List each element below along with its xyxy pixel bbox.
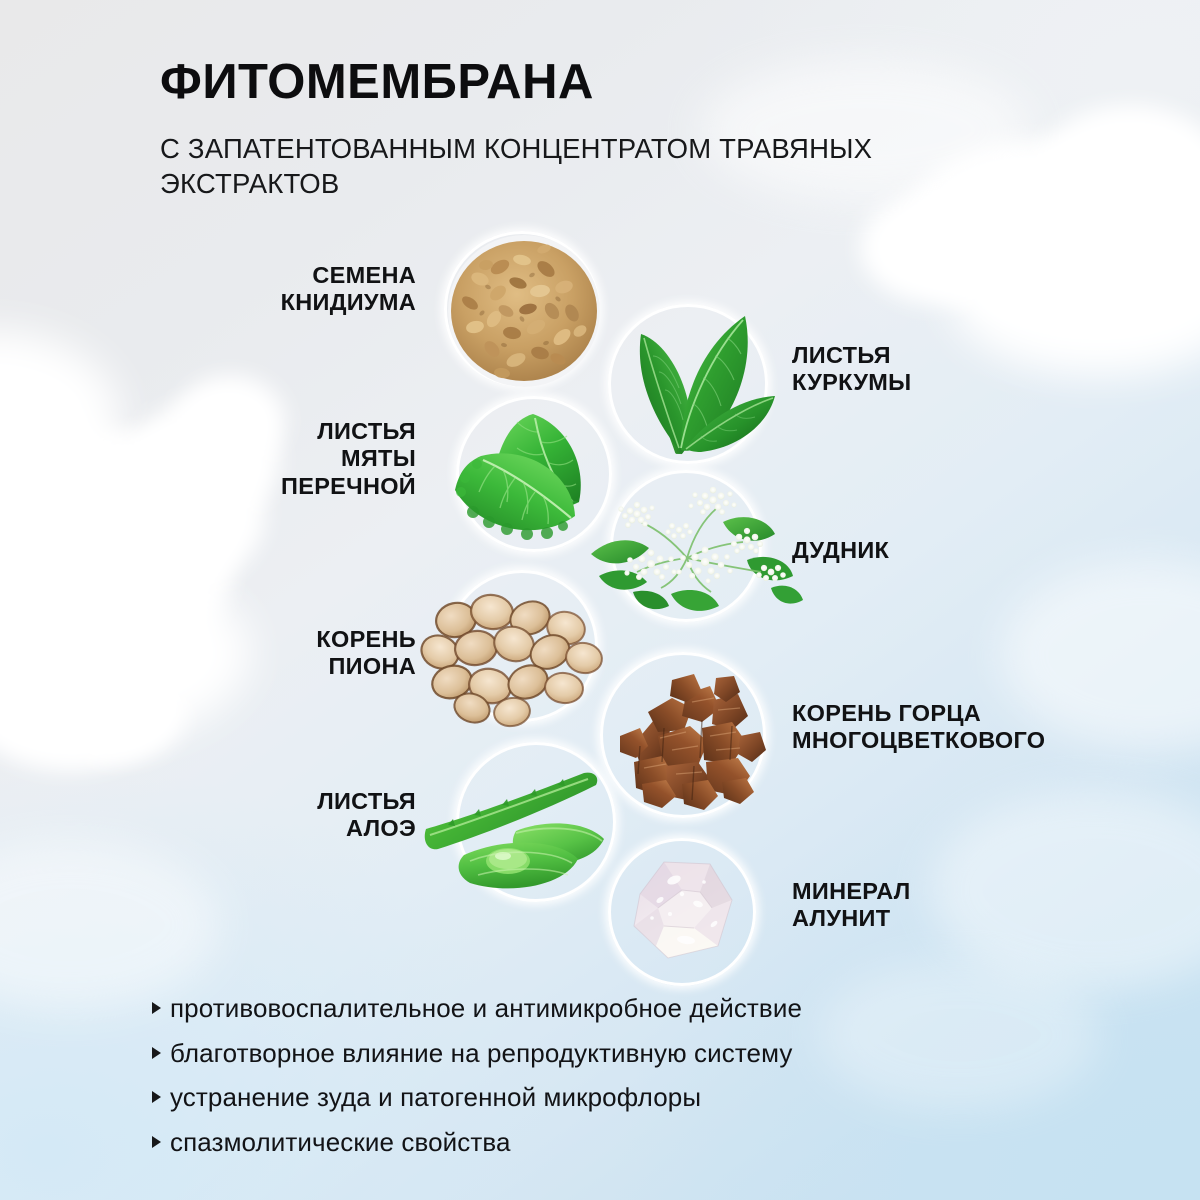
ingredient-circle-aloe-leaves — [456, 742, 616, 902]
cloud-shape — [820, 960, 1100, 1110]
ingredient-label-peppermint: ЛИСТЬЯ МЯТЫ ПЕРЕЧНОЙ — [230, 418, 416, 500]
ingredient-circle-peppermint — [456, 396, 612, 552]
triangle-bullet-icon — [152, 1002, 161, 1014]
ingredient-label-peony-root: КОРЕНЬ ПИОНА — [230, 626, 416, 681]
ingredient-circle-angelica — [610, 470, 762, 622]
cloud-shape — [860, 190, 1020, 305]
triangle-bullet-icon — [152, 1136, 161, 1148]
triangle-bullet-icon — [152, 1047, 161, 1059]
ingredient-label-fo-ti-root: КОРЕНЬ ГОРЦА МНОГОЦВЕТКОВОГО — [792, 700, 1132, 755]
benefit-text: благотворное влияние на репродуктивную с… — [170, 1038, 792, 1069]
ingredient-label-angelica: ДУДНИК — [792, 537, 1072, 564]
benefit-item: спазмолитические свойства — [152, 1127, 802, 1158]
cloud-shape — [55, 665, 185, 760]
ingredient-circle-cnidium-seeds — [444, 231, 600, 387]
triangle-bullet-icon — [152, 1091, 161, 1103]
benefit-item: устранение зуда и патогенной микрофлоры — [152, 1082, 802, 1113]
ingredient-label-aloe-leaves: ЛИСТЬЯ АЛОЭ — [230, 788, 416, 843]
benefit-item: противовоспалительное и антимикробное де… — [152, 993, 802, 1024]
ingredient-circle-fo-ti-root — [600, 652, 766, 818]
ingredient-label-turmeric-leaves: ЛИСТЬЯ КУРКУМЫ — [792, 342, 1072, 397]
benefit-text: спазмолитические свойства — [170, 1127, 511, 1158]
ingredient-label-alunite: МИНЕРАЛ АЛУНИТ — [792, 878, 1072, 933]
page-subtitle: С ЗАПАТЕНТОВАННЫМ КОНЦЕНТРАТОМ ТРАВЯНЫХ … — [160, 131, 920, 201]
ingredient-circle-alunite — [608, 838, 756, 986]
benefits-list: противовоспалительное и антимикробное де… — [152, 993, 802, 1172]
ingredient-label-cnidium-seeds: СЕМЕНА КНИДИУМА — [226, 262, 416, 317]
page-title: ФИТОМЕМБРАНА — [160, 58, 594, 108]
benefit-text: противовоспалительное и антимикробное де… — [170, 993, 802, 1024]
benefit-text: устранение зуда и патогенной микрофлоры — [170, 1082, 701, 1113]
benefit-item: благотворное влияние на репродуктивную с… — [152, 1038, 802, 1069]
ingredient-circle-turmeric-leaves — [608, 304, 768, 464]
ingredient-circle-peony-root — [446, 570, 598, 722]
